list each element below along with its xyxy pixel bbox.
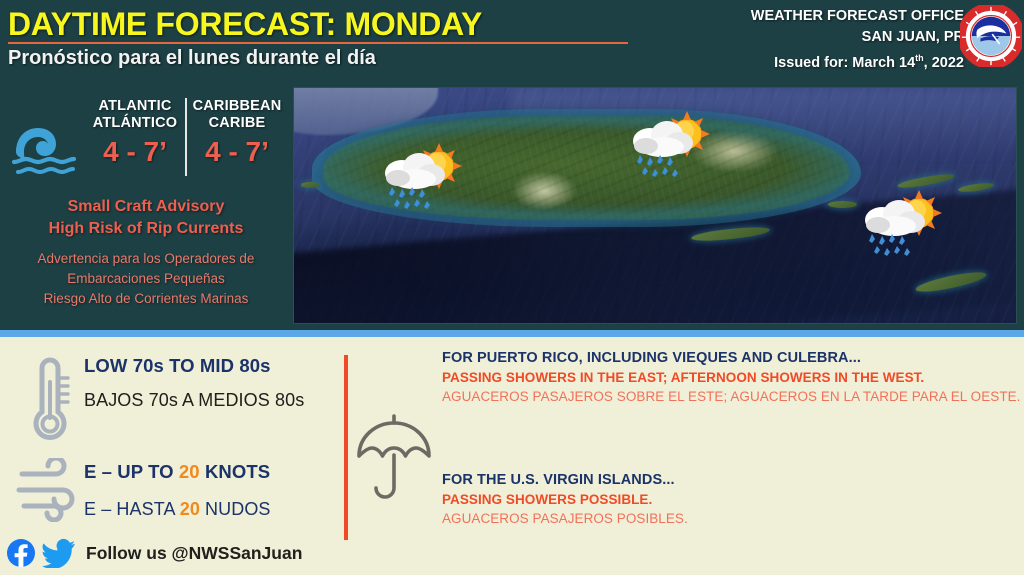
temperature-english: LOW 70s TO MID 80s (84, 355, 271, 377)
puerto-rico-satellite-map (293, 87, 1017, 324)
advisory-spanish: Advertencia para los Operadores de Embar… (0, 249, 292, 309)
thermometer-icon (20, 352, 78, 448)
rain-drops (389, 187, 430, 209)
marine-label-en: CARIBBEAN (186, 98, 288, 115)
advisory-es-line2: Embarcaciones Pequeñas (0, 269, 292, 289)
wind-es-post: NUDOS (200, 499, 271, 519)
page-subtitle: Pronóstico para el lunes durante el día (8, 47, 376, 70)
issued-date-ordinal: th (915, 53, 924, 63)
sun-behind-rain-cloud-icon-east (624, 101, 720, 185)
vertical-divider (344, 355, 348, 540)
forecast-graphic: DAYTIME FORECAST: MONDAY Pronóstico para… (0, 0, 1024, 575)
top-dark-panel: DAYTIME FORECAST: MONDAY Pronóstico para… (0, 0, 1024, 330)
forecast-pr-english: PASSING SHOWERS IN THE EAST; AFTERNOON S… (442, 368, 1020, 387)
marine-label-es: CARIBE (186, 115, 288, 132)
forecast-pr-spanish: AGUACEROS PASAJEROS SOBRE EL ESTE; AGUAC… (442, 387, 1020, 406)
wind-icon (16, 458, 88, 522)
office-location: SAN JUAN, PR (751, 27, 964, 48)
social-follow-row[interactable]: Follow us @NWSSanJuan (6, 538, 302, 568)
rain-drops (637, 155, 678, 177)
marine-value-caribbean: 4 - 7’ (186, 135, 288, 169)
advisory-english: Small Craft Advisory High Risk of Rip Cu… (0, 196, 292, 240)
map-island-culebra (828, 201, 857, 208)
marine-label-en: ATLANTIC (84, 98, 186, 115)
issued-date-text: Issued for: March 14 (774, 55, 915, 71)
forecast-virgin-islands: FOR THE U.S. VIRGIN ISLANDS... PASSING S… (442, 470, 688, 528)
wind-en-pre: E – UP TO (84, 461, 179, 482)
office-info: WEATHER FORECAST OFFICE SAN JUAN, PR Iss… (751, 6, 964, 74)
temperature-spanish: BAJOS 70s A MEDIOS 80s (84, 390, 304, 411)
forecast-vi-spanish: AGUACEROS PASAJEROS POSIBLES. (442, 509, 688, 528)
map-island-mona (301, 182, 318, 188)
forecast-pr-heading: FOR PUERTO RICO, INCLUDING VIEQUES AND C… (442, 348, 1020, 368)
office-name: WEATHER FORECAST OFFICE (751, 6, 964, 27)
marine-label-es: ATLÁNTICO (84, 115, 186, 132)
issued-date-year: , 2022 (924, 55, 964, 71)
marine-value-atlantic: 4 - 7’ (84, 135, 186, 169)
umbrella-icon (352, 404, 436, 508)
marine-column-atlantic: ATLANTIC ATLÁNTICO 4 - 7’ (84, 98, 186, 180)
advisory-es-line1: Advertencia para los Operadores de (0, 249, 292, 269)
wind-spanish: E – HASTA 20 NUDOS (84, 499, 271, 520)
marine-column-caribbean: CARIBBEAN CARIBE 4 - 7’ (186, 98, 288, 180)
section-divider-band (0, 330, 1024, 337)
nws-logo-icon (960, 5, 1022, 67)
issued-date: Issued for: March 14th, 2022 (751, 48, 964, 74)
advisory-en-line1: Small Craft Advisory (0, 196, 292, 218)
wave-icon (12, 118, 82, 180)
wind-english: E – UP TO 20 KNOTS (84, 461, 270, 483)
advisory-es-line3: Riesgo Alto de Corrientes Marinas (0, 289, 292, 309)
forecast-vi-heading: FOR THE U.S. VIRGIN ISLANDS... (442, 470, 688, 490)
sun-behind-rain-cloud-icon-usvi (856, 180, 952, 264)
advisory-en-line2: High Risk of Rip Currents (0, 218, 292, 240)
wind-es-pre: E – HASTA (84, 499, 180, 519)
forecast-vi-english: PASSING SHOWERS POSSIBLE. (442, 490, 688, 509)
wind-es-value: 20 (180, 499, 200, 519)
sun-behind-rain-cloud-icon-west (376, 133, 472, 217)
wind-en-post: KNOTS (200, 461, 271, 482)
twitter-icon[interactable] (42, 538, 76, 568)
wind-en-value: 20 (179, 461, 200, 482)
facebook-icon[interactable] (6, 538, 36, 568)
rain-drops (869, 234, 910, 256)
social-handle-text: Follow us @NWSSanJuan (86, 543, 302, 564)
title-divider (8, 42, 628, 44)
marine-column-divider (185, 98, 187, 176)
forecast-puerto-rico: FOR PUERTO RICO, INCLUDING VIEQUES AND C… (442, 348, 1020, 406)
page-title: DAYTIME FORECAST: MONDAY (8, 6, 482, 43)
